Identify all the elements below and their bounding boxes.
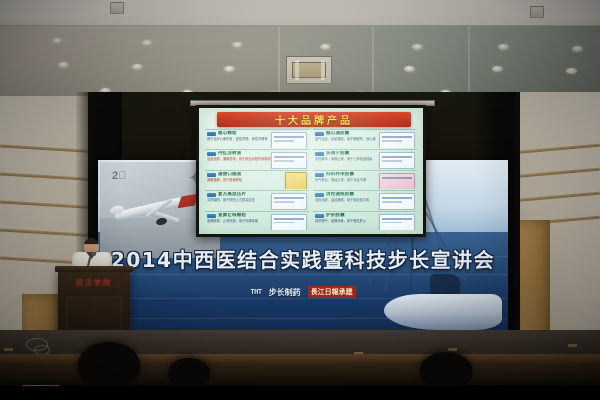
downlight-icon	[566, 68, 577, 74]
product-badge-icon	[315, 193, 324, 197]
floor-tape-marker	[568, 344, 577, 347]
downlight-icon	[320, 44, 331, 50]
product-badge-icon	[315, 152, 324, 156]
product-name: 宣肺止咳颗粒	[218, 213, 246, 218]
projection-screen: 十大品牌产品 稳心颗粒 用于治疗心律失常，室性早搏、房性早搏等 脑心通胶囊	[196, 105, 426, 237]
ceiling-ac-cassette	[286, 56, 332, 84]
audience-head	[420, 352, 472, 388]
presentation-slide: 十大品牌产品 稳心颗粒 用于治疗心律失常，室性早搏、房性早搏等 脑心通胶囊	[199, 108, 423, 234]
product-badge-icon	[207, 132, 216, 136]
product-package-image	[271, 132, 307, 148]
ac-vane	[321, 60, 325, 80]
product-package-image	[271, 214, 307, 230]
product-item: 丹红注射液 活血化瘀、通脉舒络，用于瘀血闭阻所致胸痹	[205, 149, 309, 168]
backdrop-logo-row: THT 步长制药 長江日報承建	[98, 286, 508, 298]
product-item: 复方高血压片 平肝潜阳，用于肝阳上亢型高血压	[205, 190, 309, 209]
product-name: 头孢宁胶囊	[326, 151, 350, 156]
product-name: 复方高血压片	[218, 192, 246, 197]
product-item: 脑心通胶囊 益气活血、化瘀通络，用于脑梗死、冠心病	[313, 129, 417, 148]
product-name: 脑心通胶囊	[326, 131, 350, 136]
product-name: 通便口服液	[218, 172, 242, 177]
backdrop-title: 2014中西医结合实践暨科技步长宣讲会	[98, 244, 508, 273]
downlight-icon	[404, 66, 415, 72]
product-item: 通便口服液 润肠通便，用于肠燥便秘	[205, 170, 309, 189]
product-item: 宣肺止咳颗粒 宣肺散寒、止咳化痰，用于外感咳嗽	[205, 211, 309, 230]
downlight-icon	[498, 44, 509, 50]
product-item: 头孢宁胶囊 清热解毒、消肿止痛，用于上呼吸道感染	[313, 149, 417, 168]
downlight-icon	[572, 46, 583, 52]
product-item: 消栓通络胶囊 活血化瘀、温经通络，用于缺血性中风	[313, 190, 417, 209]
downlight-icon	[492, 66, 503, 72]
ceiling-seam	[468, 26, 470, 98]
upper-ceiling-band	[0, 0, 600, 28]
podium-nameplate: 武汉学院	[64, 276, 124, 289]
product-badge-icon	[207, 193, 216, 197]
product-badge-icon	[315, 132, 324, 136]
product-name: 护肝胶囊	[326, 213, 345, 218]
smoke-detector-icon	[110, 2, 124, 14]
product-package-image	[379, 214, 415, 230]
floor-tape-marker	[448, 348, 457, 351]
ac-vane	[295, 60, 299, 80]
product-badge-icon	[207, 152, 216, 156]
audience-head	[78, 342, 140, 388]
product-package-image	[271, 193, 307, 209]
boat-hull	[384, 294, 502, 330]
podium-top	[55, 266, 133, 272]
floor-tape-marker	[4, 348, 13, 351]
conference-hall-photo: 2⃝ ✦ 2014中西医结合实践暨科技步长宣讲会 THT 步长制药 長江日報承建	[0, 0, 600, 400]
slide-title-banner: 十大品牌产品	[217, 112, 411, 127]
product-item: 妇科养荣胶囊 补气养血、调经止带，用于月经不调	[313, 170, 417, 189]
downlight-icon	[232, 42, 243, 48]
airline-logo-icon: 2⃝	[112, 170, 152, 185]
product-badge-icon	[315, 214, 324, 218]
product-item: 稳心颗粒 用于治疗心律失常，室性早搏、房性早搏等	[205, 129, 309, 148]
downlight-icon	[412, 44, 423, 50]
product-package-image	[379, 132, 415, 148]
product-package-image	[379, 193, 415, 209]
red-seal-logo: 長江日報承建	[308, 286, 356, 298]
buchang-wordmark: 步长制药	[269, 287, 301, 298]
product-package-image	[379, 152, 415, 168]
product-name: 妇科养荣胶囊	[326, 172, 354, 177]
downlight-icon	[224, 66, 235, 72]
product-badge-icon	[207, 173, 216, 177]
downlight-icon	[58, 62, 69, 68]
microphone-icon	[92, 252, 96, 256]
product-name: 丹红注射液	[218, 151, 242, 156]
product-package-image	[285, 172, 307, 189]
product-name: 消栓通络胶囊	[326, 192, 354, 197]
audience-head	[168, 358, 210, 388]
downlight-icon	[142, 40, 153, 46]
product-item: 护肝胶囊 疏肝理气、健脾消食，用于慢性肝炎	[313, 211, 417, 230]
product-package-image	[271, 152, 307, 168]
podium-plate-text: 武汉学院	[76, 278, 112, 288]
product-grid: 稳心颗粒 用于治疗心律失常，室性早搏、房性早搏等 脑心通胶囊 益气活血、化瘀通络…	[205, 129, 417, 230]
product-badge-icon	[207, 214, 216, 218]
downlight-icon	[52, 38, 63, 44]
product-badge-icon	[315, 173, 324, 177]
product-package-image	[379, 173, 415, 189]
smoke-detector-icon	[530, 6, 544, 18]
letterbox-bar	[0, 386, 600, 400]
ceiling-seam	[372, 26, 374, 98]
slide-title-text: 十大品牌产品	[275, 112, 353, 127]
downlight-icon	[132, 64, 143, 70]
tht-mark-icon: THT	[250, 288, 261, 296]
product-name: 稳心颗粒	[218, 131, 237, 136]
ceiling-seam	[278, 26, 280, 98]
